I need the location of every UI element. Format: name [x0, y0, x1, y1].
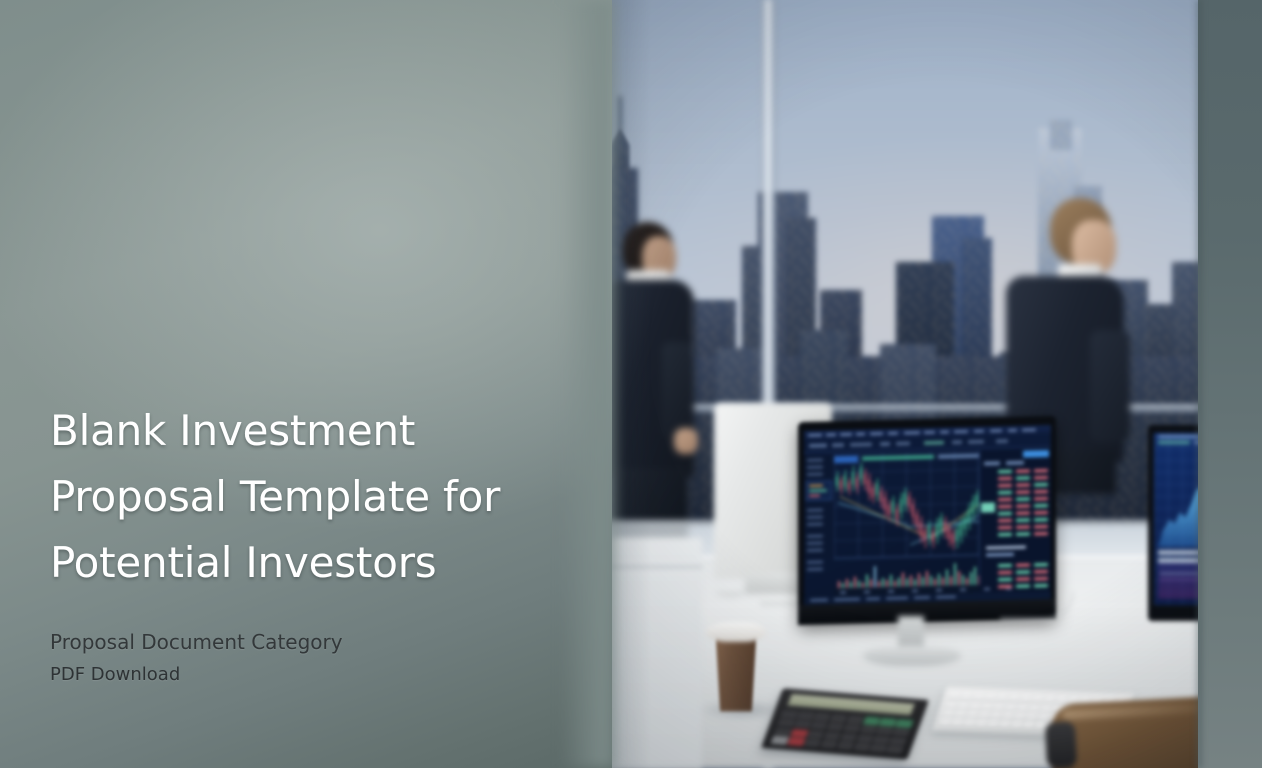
desk-object-mouse	[716, 588, 746, 597]
calculator	[761, 688, 929, 760]
terminal-left-toolbar	[804, 454, 834, 559]
coffee-cup-lid	[706, 622, 766, 642]
order-book-action-button	[1023, 450, 1049, 458]
page-title-text: Blank Investment Proposal Template for P…	[50, 406, 500, 587]
businessman-left	[604, 222, 696, 552]
slide-canvas: Blank Investment Proposal Template for P…	[0, 0, 1262, 768]
volume-pane	[834, 555, 979, 589]
page-title: Blank Investment Proposal Template for P…	[50, 398, 590, 596]
order-book-panel	[979, 449, 1051, 585]
text-overlay: Blank Investment Proposal Template for P…	[50, 398, 590, 690]
imac-stand	[745, 572, 803, 594]
terminal-info-box	[806, 480, 832, 501]
monitor-stand-base	[863, 646, 961, 666]
document-meta: Proposal Document Category PDF Download	[50, 625, 590, 690]
leather-chair-armrest	[1045, 721, 1077, 768]
trading-terminal-screen	[804, 425, 1051, 605]
document-category: Proposal Document Category	[50, 625, 590, 659]
right-edge-band	[1198, 0, 1262, 768]
order-book-selected-row	[981, 502, 995, 512]
document-format: PDF Download	[50, 659, 590, 690]
calculator-keypad	[771, 710, 914, 754]
chart-gridlines	[834, 451, 979, 559]
